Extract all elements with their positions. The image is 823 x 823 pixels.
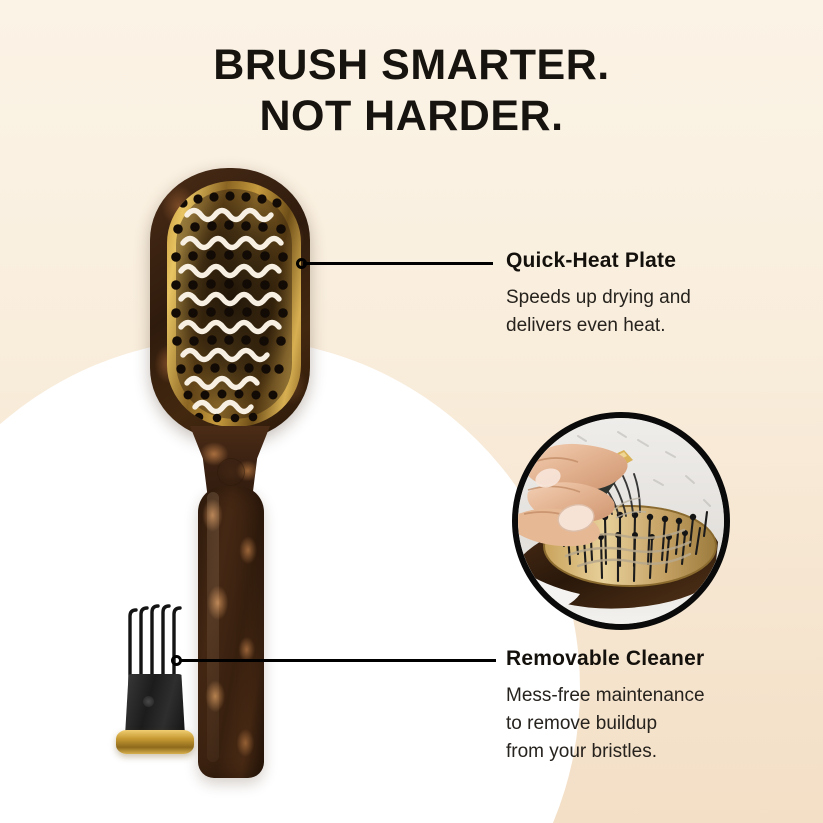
- callout-body-line: Mess-free maintenance: [506, 682, 806, 710]
- callout-removable-cleaner: Removable Cleaner Mess-free maintenance …: [506, 646, 806, 765]
- callout-title: Removable Cleaner: [506, 646, 806, 671]
- removable-cleaner-tool: [108, 600, 204, 760]
- bristle-dots-icon: [167, 181, 301, 427]
- callout-body: Mess-free maintenance to remove buildup …: [506, 682, 806, 765]
- inset-photo-illustration: [518, 418, 724, 624]
- inset-photo-removable-cleaner: [512, 412, 730, 630]
- callout-body-line: to remove buildup: [506, 710, 806, 738]
- cleaner-gold-base: [116, 730, 194, 754]
- callout-body: Speeds up drying and delivers even heat.: [506, 284, 806, 339]
- leader-dot-quick-heat-plate: [296, 258, 307, 269]
- cleaner-body: [125, 674, 185, 736]
- callout-body-line: from your bristles.: [506, 738, 806, 766]
- cleaner-prongs-icon: [122, 600, 188, 684]
- gold-heat-plate: [167, 181, 301, 427]
- leader-dot-removable-cleaner: [171, 655, 182, 666]
- leader-line-removable-cleaner: [179, 659, 496, 662]
- callout-body-line: Speeds up drying and: [506, 284, 806, 312]
- infographic-canvas: BRUSH SMARTER. NOT HARDER.: [0, 0, 823, 823]
- callout-body-line: delivers even heat.: [506, 312, 806, 340]
- brand-emblem-icon: [217, 458, 245, 486]
- headline-line-1: BRUSH SMARTER.: [0, 40, 823, 91]
- callout-quick-heat-plate: Quick-Heat Plate Speeds up drying and de…: [506, 248, 806, 340]
- brush-head-shell: [150, 168, 310, 440]
- headline-line-2: NOT HARDER.: [0, 91, 823, 142]
- page-title: BRUSH SMARTER. NOT HARDER.: [0, 40, 823, 142]
- callout-title: Quick-Heat Plate: [506, 248, 806, 273]
- leader-line-quick-heat-plate: [303, 262, 493, 265]
- brush-handle: [198, 486, 264, 778]
